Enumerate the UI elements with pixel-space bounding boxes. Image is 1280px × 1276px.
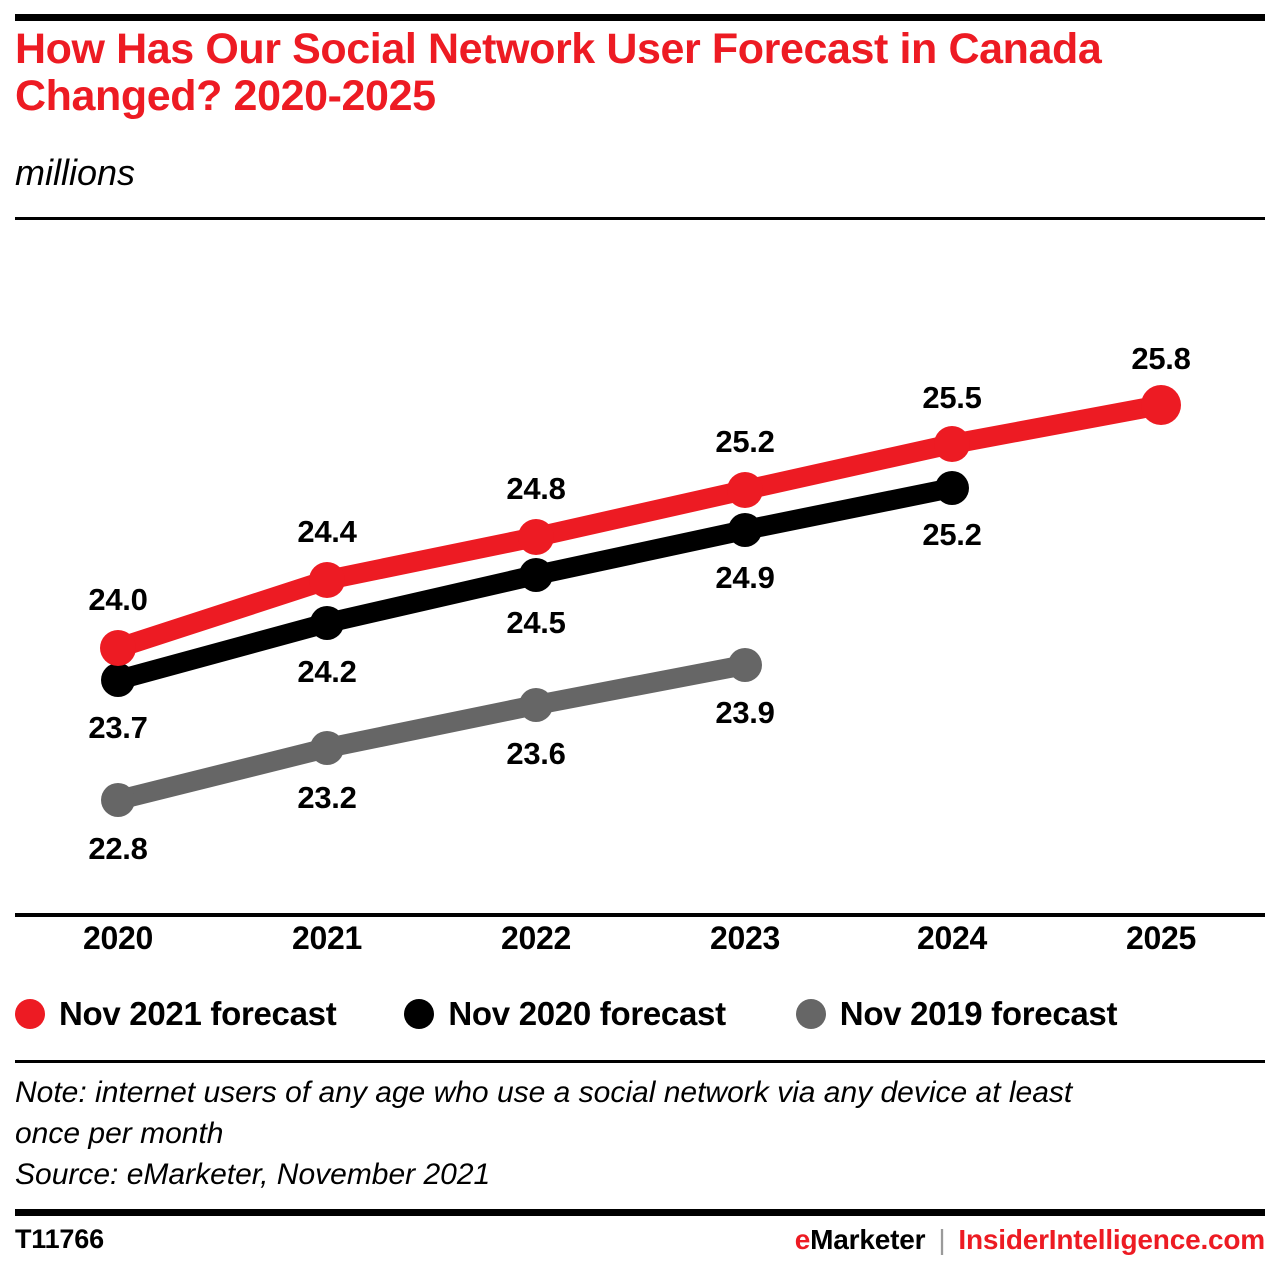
data-label-nov-2019-2020: 22.8 — [88, 831, 147, 867]
data-label-nov-2020-2020: 23.7 — [88, 710, 147, 746]
data-label-nov-2019-2022: 23.6 — [506, 736, 565, 772]
data-label-nov-2021-2024: 25.5 — [922, 380, 981, 416]
legend-label-nov-2019: Nov 2019 forecast — [840, 995, 1117, 1033]
data-point-marker — [310, 606, 344, 640]
chart-subtitle: millions — [15, 152, 135, 194]
data-point-marker — [728, 513, 762, 547]
x-tick-2020: 2020 — [83, 920, 153, 957]
data-label-nov-2021-2025: 25.8 — [1131, 341, 1190, 377]
chart-legend: Nov 2021 forecast Nov 2020 forecast Nov … — [15, 990, 1117, 1038]
data-point-marker — [1141, 385, 1181, 425]
legend-label-nov-2021: Nov 2021 forecast — [59, 995, 336, 1033]
data-point-marker — [935, 471, 969, 505]
brand-emarketer-rest: Marketer — [810, 1224, 925, 1256]
legend-item-nov-2019[interactable]: Nov 2019 forecast — [796, 995, 1117, 1033]
data-label-nov-2020-2023: 24.9 — [715, 560, 774, 596]
x-tick-2021: 2021 — [292, 920, 362, 957]
note-source: Source: eMarketer, November 2021 — [15, 1154, 1260, 1195]
data-point-marker — [309, 562, 345, 598]
x-axis-labels: 2020 2021 2022 2023 2024 2025 — [0, 920, 1280, 966]
page-footer: T11766 e Marketer | InsiderIntelligence.… — [0, 1224, 1280, 1268]
circle-marker-red-icon — [15, 999, 45, 1029]
data-label-nov-2021-2021: 24.4 — [297, 514, 356, 550]
data-label-nov-2020-2021: 24.2 — [297, 654, 356, 690]
data-point-marker — [101, 783, 135, 817]
chart-note: Note: internet users of any age who use … — [15, 1072, 1260, 1195]
data-point-marker — [728, 648, 762, 682]
data-label-nov-2020-2022: 24.5 — [506, 605, 565, 641]
x-tick-2022: 2022 — [501, 920, 571, 957]
legend-item-nov-2020[interactable]: Nov 2020 forecast — [404, 995, 725, 1033]
data-label-nov-2021-2020: 24.0 — [88, 582, 147, 618]
chart-id: T11766 — [15, 1224, 104, 1255]
header-divider — [15, 217, 1265, 220]
data-point-marker — [100, 630, 136, 666]
x-axis-line — [15, 913, 1265, 917]
brand-emarketer-e: e — [795, 1224, 810, 1256]
legend-item-nov-2021[interactable]: Nov 2021 forecast — [15, 995, 336, 1033]
data-point-marker — [519, 688, 553, 722]
chart-svg — [0, 225, 1280, 915]
note-line-1: Note: internet users of any age who use … — [15, 1072, 1260, 1113]
chart-page: How Has Our Social Network User Forecast… — [0, 0, 1280, 1276]
note-divider — [15, 1060, 1265, 1063]
x-tick-2023: 2023 — [710, 920, 780, 957]
data-point-marker — [934, 426, 970, 462]
data-label-nov-2019-2021: 23.2 — [297, 780, 356, 816]
data-point-marker — [310, 731, 344, 765]
legend-label-nov-2020: Nov 2020 forecast — [448, 995, 725, 1033]
data-label-nov-2021-2022: 24.8 — [506, 471, 565, 507]
footer-divider — [15, 1209, 1265, 1216]
data-point-marker — [727, 472, 763, 508]
chart-plot-area: 24.0 24.4 24.8 25.2 25.5 25.8 23.7 24.2 … — [0, 225, 1280, 915]
brand-insider-intelligence-link[interactable]: InsiderIntelligence.com — [958, 1224, 1265, 1256]
brand-lockup: e Marketer | InsiderIntelligence.com — [795, 1224, 1265, 1256]
data-point-marker — [518, 519, 554, 555]
series-line-nov-2019 — [118, 665, 745, 800]
page-title: How Has Our Social Network User Forecast… — [15, 26, 1165, 120]
circle-marker-gray-icon — [796, 999, 826, 1029]
data-point-marker — [101, 663, 135, 697]
data-label-nov-2020-2024: 25.2 — [922, 517, 981, 553]
x-tick-2025: 2025 — [1126, 920, 1196, 957]
data-label-nov-2021-2023: 25.2 — [715, 424, 774, 460]
top-rule — [15, 14, 1265, 21]
circle-marker-black-icon — [404, 999, 434, 1029]
note-line-2: once per month — [15, 1113, 1260, 1154]
data-label-nov-2019-2023: 23.9 — [715, 695, 774, 731]
series-line-nov-2021 — [118, 405, 1161, 648]
x-tick-2024: 2024 — [917, 920, 987, 957]
brand-separator: | — [938, 1224, 945, 1256]
data-point-marker — [519, 558, 553, 592]
